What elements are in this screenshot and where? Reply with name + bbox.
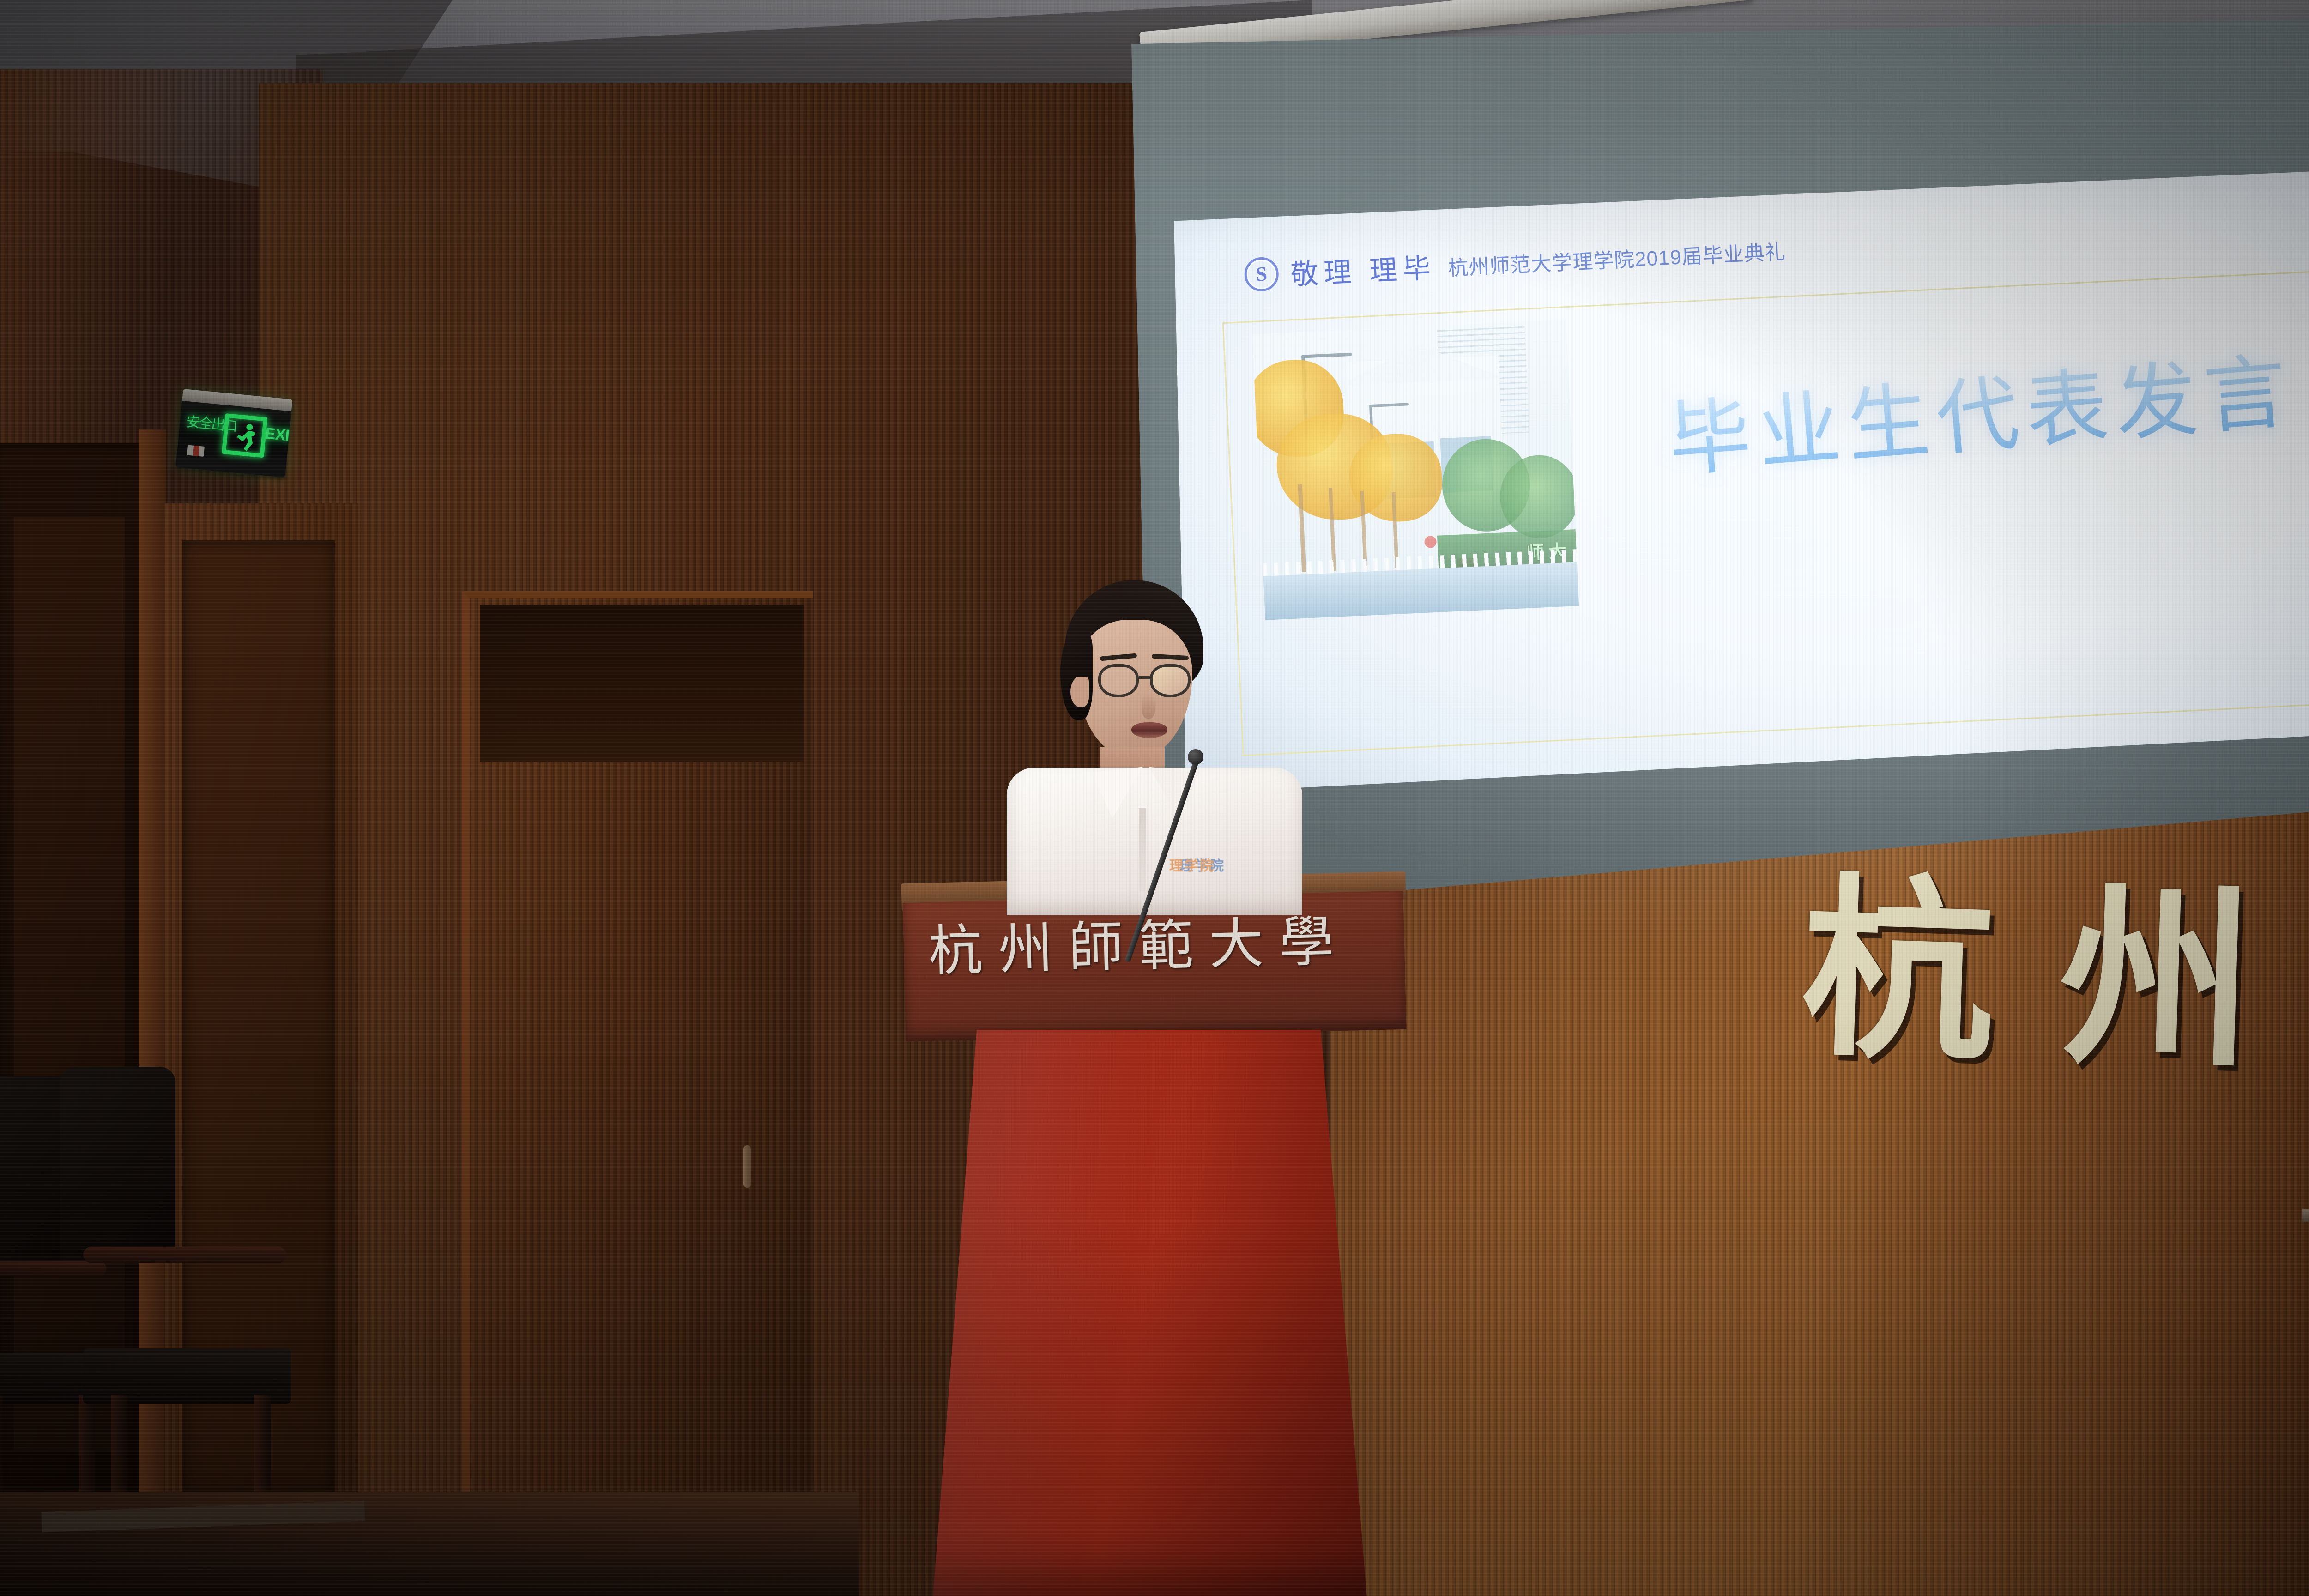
glasses-lens-left (1098, 664, 1139, 697)
mouth (1131, 722, 1167, 738)
wall-letter-2: 州 (2057, 890, 2256, 1070)
slide-content: S 敬理 理毕 杭州师范大学理学院2019届毕业典礼 (1173, 168, 2309, 793)
emergency-exit-sign: 安全出口 EXIT (175, 389, 292, 478)
hair-side (1060, 633, 1093, 720)
lectern-char-4: 範 (1138, 918, 1194, 973)
lectern-char-2: 州 (998, 921, 1054, 977)
exit-sign-indicator (187, 445, 205, 457)
lectern-char-6: 學 (1279, 914, 1335, 970)
door-right-header-shadow (480, 605, 804, 762)
lectern-char-1: 杭 (928, 923, 984, 979)
slide-header: S 敬理 理毕 杭州师范大学理学院2019届毕业典礼 (1244, 229, 1787, 295)
graduate-representative: 理学院 (979, 577, 1330, 910)
running-man-icon (222, 413, 268, 458)
lectern: 杭 州 師 範 大 學 (877, 877, 1432, 1596)
ear (1070, 677, 1089, 707)
lectern-body-highlight (877, 1030, 1432, 1596)
glasses-icon (1098, 664, 1197, 698)
polo-shirt (1007, 768, 1302, 915)
lectern-char-3: 師 (1068, 919, 1124, 975)
auditorium-scene: 安全出口 EXIT S 敬理 理毕 杭州师范大学理学院2019届毕业典礼 (0, 0, 2309, 1596)
microphone-head-icon[interactable] (1188, 749, 1203, 765)
chair-armrest (83, 1247, 286, 1263)
exit-label-english: EXIT (264, 425, 292, 446)
university-logo-icon: S (1244, 256, 1280, 292)
shirt-logo-text: 理学院 (1169, 854, 1215, 875)
shirt-placket (1139, 808, 1146, 891)
slide-brand-text: 敬理 理毕 (1290, 246, 1437, 293)
running-man-glyph (233, 422, 257, 453)
wall-signage: 杭 州 师 (1798, 882, 2309, 1076)
stage-floor (0, 1492, 859, 1596)
chair-back (60, 1067, 175, 1261)
lectern-char-5: 大 (1209, 916, 1264, 972)
wall-letter-1: 杭 (1798, 882, 1998, 1063)
slide-subtitle-text: 杭州师范大学理学院2019届毕业典礼 (1447, 235, 1787, 285)
glasses-bridge (1139, 676, 1151, 679)
side-table-top (2302, 1209, 2309, 1222)
door-handle[interactable] (743, 1145, 751, 1188)
slide-campus-photo: 师大 (1252, 320, 1579, 620)
glasses-lens-right (1150, 664, 1191, 697)
nose (1142, 694, 1155, 719)
